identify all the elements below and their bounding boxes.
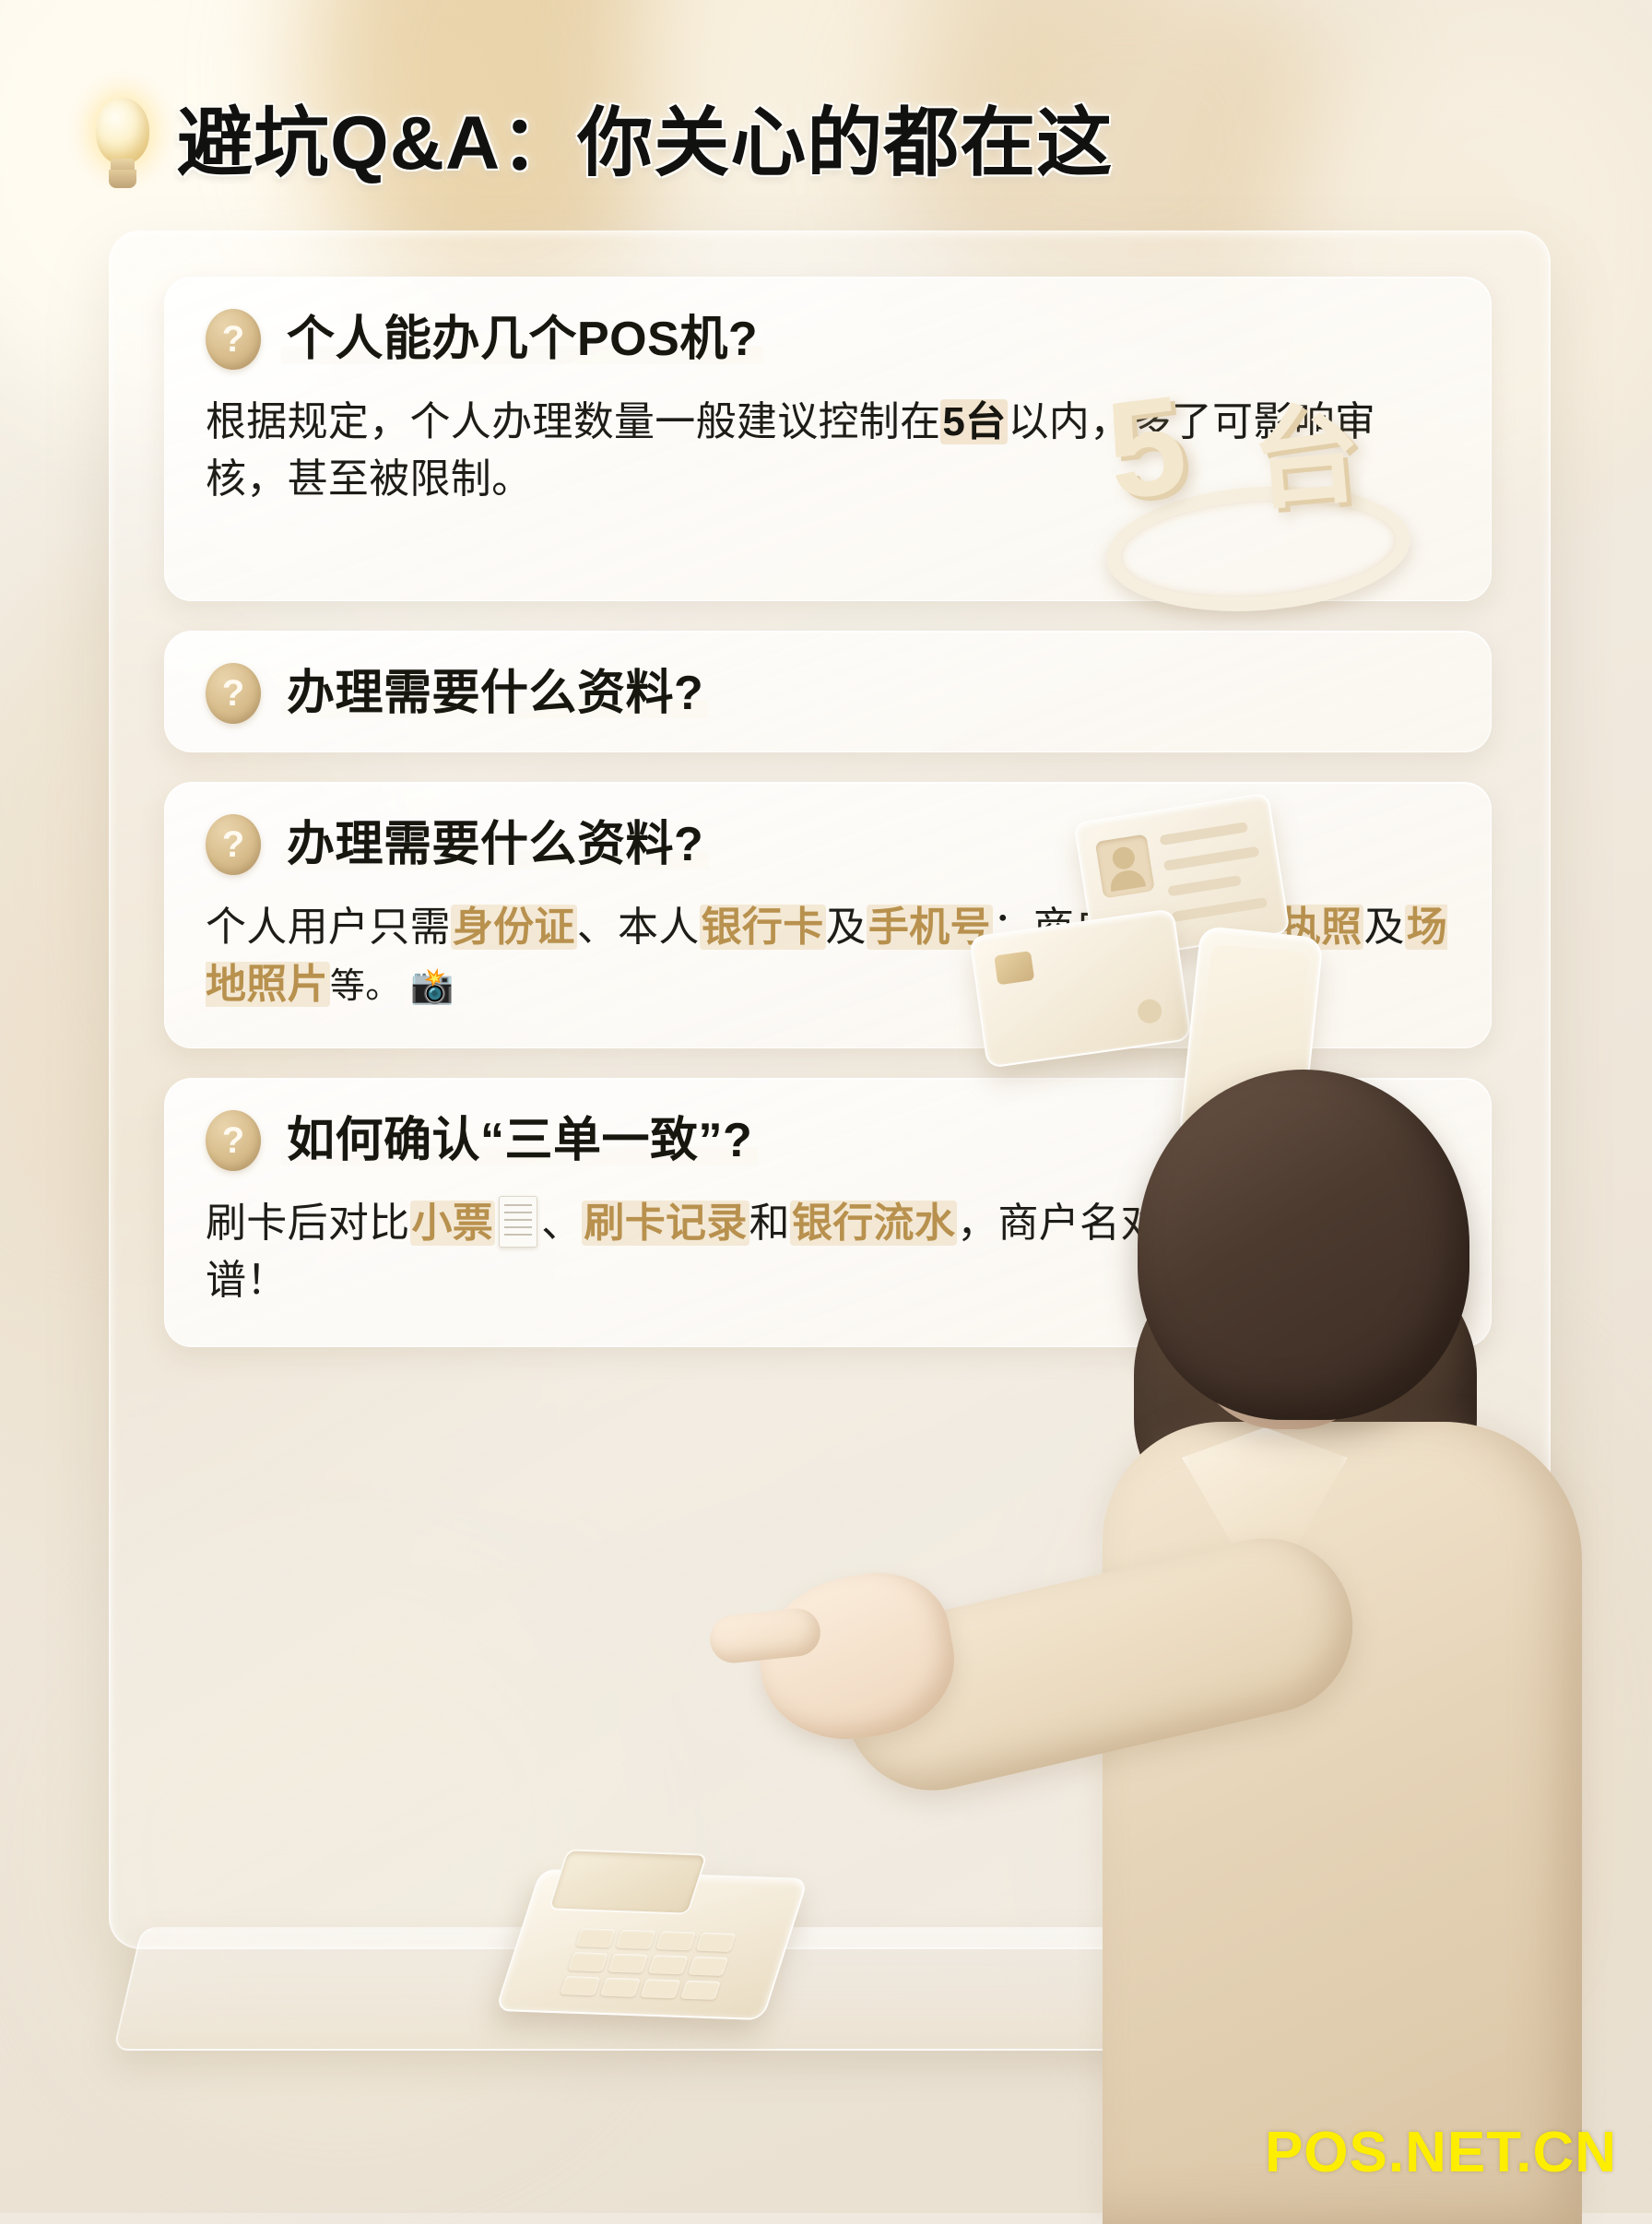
question-text: 办理需要什么资料?	[281, 818, 709, 871]
qa-card[interactable]: ? 个人能办几个POS机? 根据规定，个人办理数量一般建议控制在5台以内，多了可…	[164, 277, 1492, 601]
qa-card[interactable]: ? 办理需要什么资料?	[164, 631, 1492, 752]
hair-front	[1138, 1070, 1469, 1420]
answer-segment: 、	[541, 1201, 582, 1246]
question-mark-icon: ?	[206, 1110, 261, 1171]
answer-segment: 和	[749, 1201, 790, 1246]
answer-text: 个人用户只需身份证、本人银行卡及手机号；商户则需营业执照及场地照片等。 📸	[206, 899, 1448, 1014]
page-title: 避坑Q&A：你关心的都在这	[177, 106, 1113, 182]
answer-segment: 、本人	[577, 905, 700, 950]
answer-segment: 根据规定，个人办理数量一般建议控制在	[206, 399, 940, 444]
answer-highlight: 身份证	[451, 905, 577, 950]
question-mark-icon: ?	[206, 309, 261, 370]
answer-segment: 及	[826, 905, 867, 950]
answer-segment: 刷卡后对比	[206, 1201, 410, 1246]
receipt-icon	[499, 1196, 537, 1248]
question-mark-icon: ?	[206, 814, 261, 875]
question-row: ? 办理需要什么资料?	[206, 663, 1448, 724]
question-row: ? 办理需要什么资料?	[206, 814, 1448, 875]
question-text: 个人能办几个POS机?	[281, 313, 763, 366]
answer-segment: 及	[1363, 905, 1404, 950]
answer-text: 根据规定，个人办理数量一般建议控制在5台以内，多了可影响审核，甚至被限制。	[206, 394, 1448, 509]
character-body	[1103, 1422, 1582, 2224]
answer-highlight: 刷卡记录	[582, 1201, 749, 1246]
page-header: 避坑Q&A：你关心的都在这	[0, 89, 1652, 199]
answer-segment: ；商户则需	[993, 905, 1198, 950]
answer-highlight: 营业执照	[1197, 905, 1363, 950]
pos-terminal-icon	[516, 1835, 820, 2019]
question-mark-icon: ?	[206, 663, 261, 724]
answer-highlight: 手机号	[867, 905, 993, 950]
watermark: POS.NET.CN	[1265, 2120, 1617, 2185]
question-text: 如何确认“三单一致”?	[281, 1114, 758, 1167]
answer-segment: 等。 📸	[330, 967, 454, 1006]
answer-highlight: 小票	[410, 1201, 496, 1246]
lightbulb-icon	[88, 96, 157, 192]
question-row: ? 个人能办几个POS机?	[206, 309, 1448, 370]
woman-3d-character	[905, 1060, 1652, 2222]
answer-highlight: 银行卡	[700, 905, 826, 950]
answer-segment: 个人用户只需	[206, 905, 451, 950]
answer-highlight: 5台	[940, 399, 1008, 444]
question-text: 办理需要什么资料?	[281, 667, 709, 720]
qa-card[interactable]: ? 办理需要什么资料? 个人用户只需身份证、本人银行卡及手机号；商户则需营业执照…	[164, 782, 1492, 1048]
